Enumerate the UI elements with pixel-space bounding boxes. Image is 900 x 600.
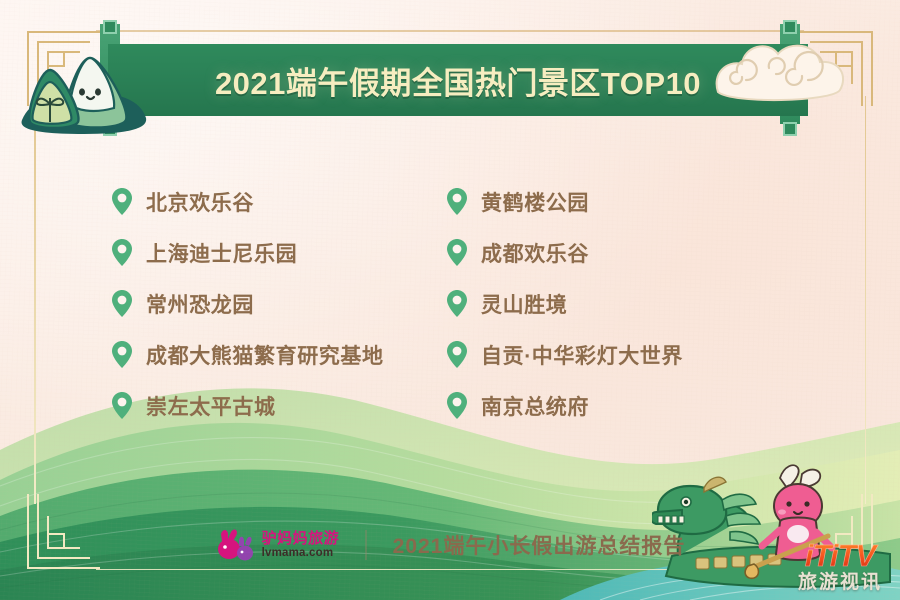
list-item[interactable]: 南京总统府	[447, 380, 782, 431]
location-pin-icon	[447, 392, 467, 419]
list-item[interactable]: 灵山胜境	[447, 278, 782, 329]
watermark-subtitle: 旅游视讯	[798, 573, 882, 592]
watermark: iTiTV 旅游视讯	[798, 540, 882, 592]
poster-canvas: 2021端午假期全国热门景区TOP10	[0, 0, 900, 600]
list-item-label: 南京总统府	[481, 391, 589, 421]
footer-bar: 驴妈妈旅游 lvmama.com 2021端午小长假出游总结报告	[0, 528, 900, 562]
location-pin-icon	[447, 341, 467, 368]
list-item-label: 上海迪士尼乐园	[146, 238, 297, 268]
logo-name-cn: 驴妈妈旅游	[262, 531, 340, 547]
list-item[interactable]: 成都大熊猫繁育研究基地	[112, 329, 447, 380]
attraction-list: 北京欢乐谷 黄鹤楼公园 上海迪士尼乐园 成都欢乐谷 常州恐龙园	[0, 176, 900, 431]
watermark-brand: iTiTV	[798, 540, 882, 571]
location-pin-icon	[112, 239, 132, 266]
location-pin-icon	[447, 239, 467, 266]
list-item-label: 成都大熊猫繁育研究基地	[146, 340, 384, 370]
list-item[interactable]: 上海迪士尼乐园	[112, 227, 447, 278]
report-title: 2021端午小长假出游总结报告	[393, 530, 686, 560]
lvmama-logo[interactable]: 驴妈妈旅游 lvmama.com	[215, 528, 340, 562]
list-item[interactable]: 北京欢乐谷	[112, 176, 447, 227]
location-pin-icon	[447, 290, 467, 317]
location-pin-icon	[112, 392, 132, 419]
location-pin-icon	[112, 188, 132, 215]
list-item-label: 黄鹤楼公园	[481, 187, 589, 217]
list-item-label: 常州恐龙园	[146, 289, 254, 319]
list-item[interactable]: 崇左太平古城	[112, 380, 447, 431]
frame-rule-top	[96, 30, 804, 32]
page-title: 2021端午假期全国热门景区TOP10	[128, 44, 788, 116]
list-item-label: 崇左太平古城	[146, 391, 276, 421]
list-item-label: 自贡·中华彩灯大世界	[481, 340, 683, 370]
list-item[interactable]: 成都欢乐谷	[447, 227, 782, 278]
location-pin-icon	[447, 188, 467, 215]
list-item[interactable]: 常州恐龙园	[112, 278, 447, 329]
auspicious-cloud-icon	[712, 18, 852, 126]
footer-divider	[365, 530, 367, 560]
lvmama-rabbit-logo-icon	[215, 528, 255, 562]
zongzi-dumpling-icon	[14, 34, 154, 138]
list-item-label: 北京欢乐谷	[146, 187, 254, 217]
list-item[interactable]: 黄鹤楼公园	[447, 176, 782, 227]
list-item-label: 灵山胜境	[481, 289, 567, 319]
logo-name-en: lvmama.com	[262, 547, 340, 559]
list-item[interactable]: 自贡·中华彩灯大世界	[447, 329, 782, 380]
location-pin-icon	[112, 290, 132, 317]
list-item-label: 成都欢乐谷	[481, 238, 589, 268]
location-pin-icon	[112, 341, 132, 368]
banner-cap-top-left	[103, 20, 117, 34]
